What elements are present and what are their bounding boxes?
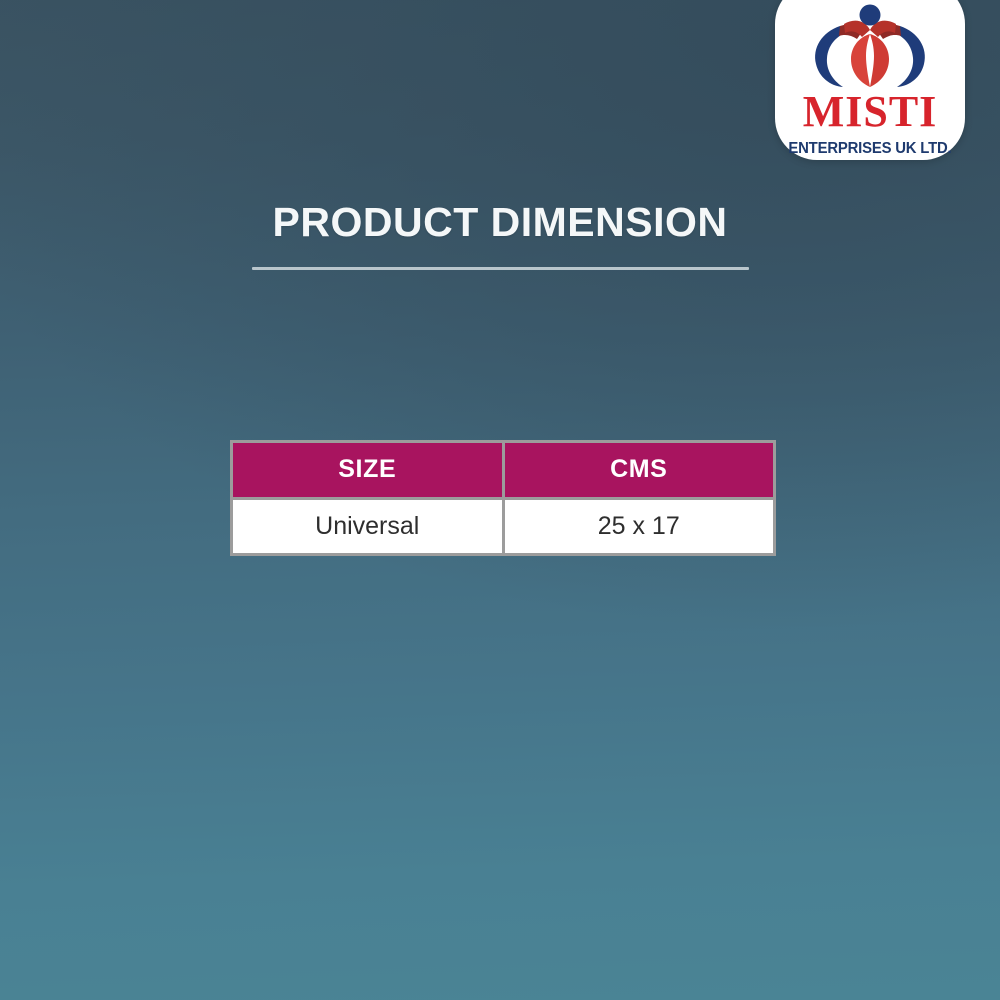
title-block: PRODUCT DIMENSION	[0, 200, 1000, 270]
cell-cms-value: 25 x 17	[505, 500, 774, 554]
column-header-size: SIZE	[233, 443, 502, 497]
column-header-cms: CMS	[505, 443, 774, 497]
cell-size-value: Universal	[233, 500, 502, 554]
logo-tagline: ENTERPRISES UK LTD.	[788, 141, 951, 157]
title-underline-rule	[252, 267, 749, 270]
logo-wordmark: MISTI	[803, 90, 938, 134]
page-title: PRODUCT DIMENSION	[0, 200, 1000, 245]
table-header-row: SIZE CMS	[233, 443, 773, 497]
product-dimension-slide: MISTI ENTERPRISES UK LTD. PRODUCT DIMENS…	[0, 0, 1000, 1000]
people-emblem-icon	[810, 4, 930, 88]
table-row: Universal 25 x 17	[233, 500, 773, 554]
brand-logo-card: MISTI ENTERPRISES UK LTD.	[775, 0, 965, 160]
product-dimension-table: SIZE CMS Universal 25 x 17	[230, 440, 776, 556]
